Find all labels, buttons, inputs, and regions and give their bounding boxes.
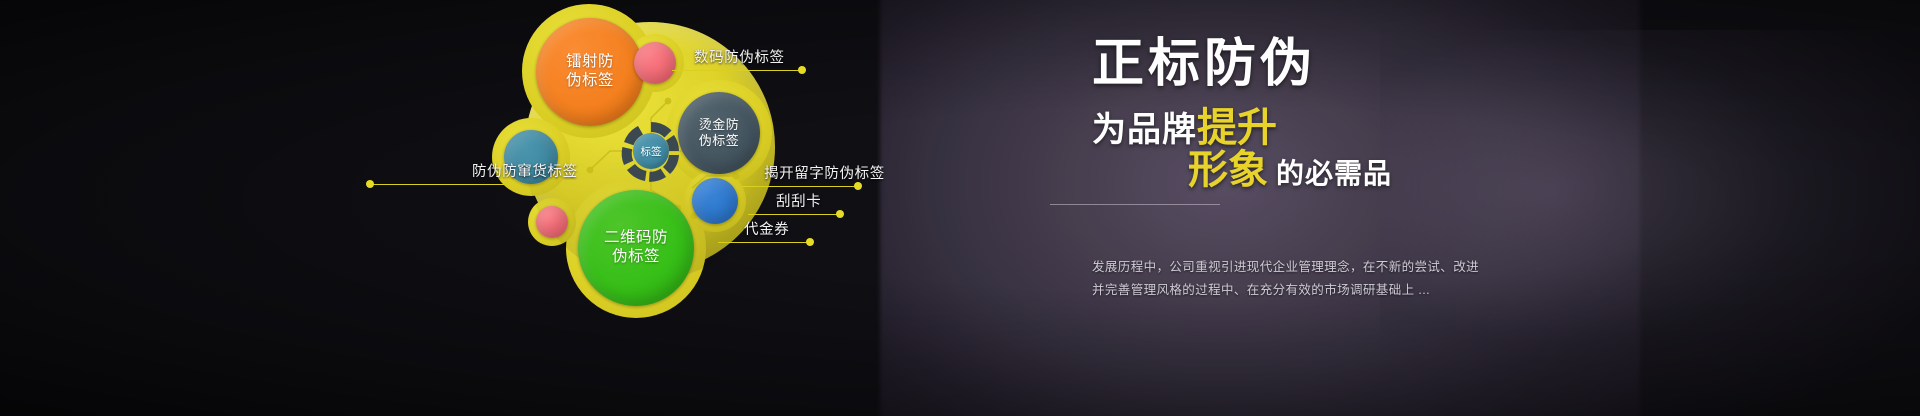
subheadline-line-2: 形象 的必需品 (1188, 150, 1392, 190)
node-hot-foil-line2: 伪标签 (699, 133, 740, 149)
subheadline-prefix: 为品牌 (1092, 113, 1197, 147)
marketing-copy-block: 正标防伪 为品牌 提升 形象 的必需品 (1092, 38, 1792, 204)
subheadline-accent-1: 提升 (1197, 108, 1277, 148)
node-laser-line1: 镭射防 (566, 53, 614, 72)
callout-voucher-text[interactable]: 代金券 (744, 218, 789, 239)
callout-reveal-text-label-leader (742, 186, 858, 187)
subheadline-block: 为品牌 提升 形象 的必需品 (1092, 108, 1792, 204)
subheadline-line-1: 为品牌 提升 (1092, 108, 1277, 148)
hub-core-label-badge: 标签 (633, 133, 669, 169)
callout-scratch-card-dot (836, 210, 844, 218)
node-hot-foil-line1: 烫金防 (699, 117, 740, 133)
promo-banner: 标签 镭射防 伪标签 烫金防 伪标签 二维码防 伪标签 (0, 0, 1920, 416)
callout-reveal-text-label-text[interactable]: 揭开留字防伪标签 (764, 162, 885, 183)
subheadline-suffix: 的必需品 (1276, 160, 1392, 188)
callout-digital-label-leader (672, 70, 802, 71)
callout-anti-diversion-text[interactable]: 防伪防窜货标签 (472, 160, 578, 181)
subheadline-accent-2: 形象 (1188, 150, 1268, 190)
callout-voucher-dot (806, 238, 814, 246)
node-pink-dot-bottom[interactable] (536, 206, 568, 238)
node-qr-code-label[interactable]: 二维码防 伪标签 (578, 190, 694, 306)
node-laser-label[interactable]: 镭射防 伪标签 (536, 18, 644, 126)
callout-scratch-card-text[interactable]: 刮刮卡 (776, 190, 821, 211)
center-hub: 标签 (620, 120, 682, 182)
callout-anti-diversion-dot (366, 180, 374, 188)
hub-label-text: 标签 (641, 144, 662, 159)
callout-reveal-text-label-dot (854, 182, 862, 190)
node-hot-foil-label[interactable]: 烫金防 伪标签 (678, 92, 760, 174)
body-paragraph: 发展历程中，公司重视引进现代企业管理理念，在不新的尝试、改进并完善管理风格的过程… (1092, 256, 1482, 302)
node-blue-dot[interactable] (692, 178, 738, 224)
callout-voucher-leader (718, 242, 810, 243)
node-laser-line2: 伪标签 (566, 72, 614, 91)
node-qr-code-line2: 伪标签 (604, 248, 668, 267)
page-title: 正标防伪 (1092, 38, 1792, 90)
callout-anti-diversion-leader (370, 184, 510, 185)
callout-scratch-card-leader (748, 214, 840, 215)
node-pink-dot-top[interactable] (634, 42, 676, 84)
callout-digital-label-dot (798, 66, 806, 74)
copy-divider (1050, 204, 1220, 205)
callout-digital-label-text[interactable]: 数码防伪标签 (694, 46, 785, 67)
node-qr-code-line1: 二维码防 (604, 229, 668, 248)
